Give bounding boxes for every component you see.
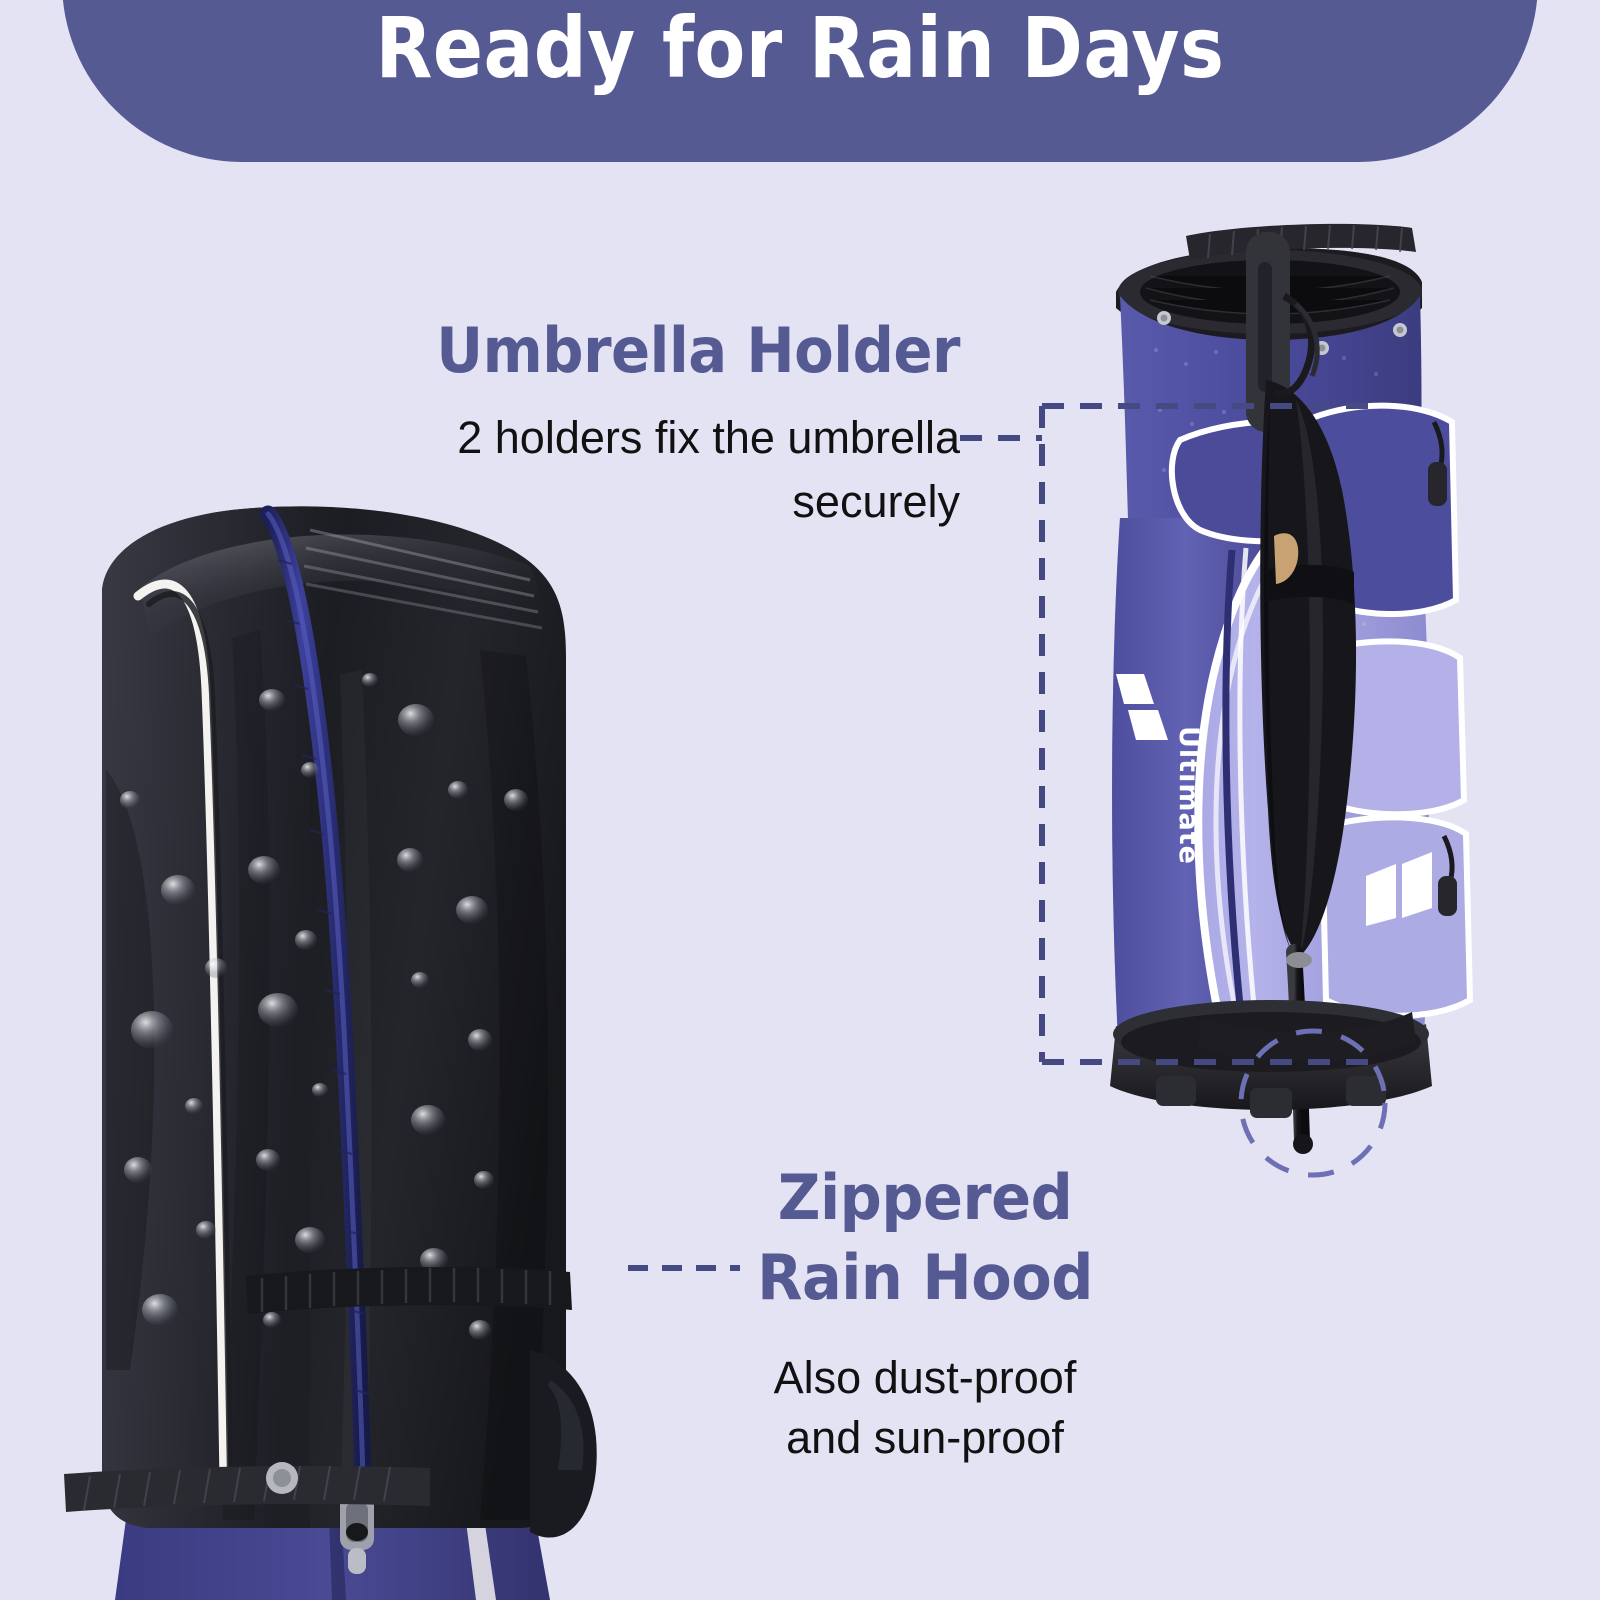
bag-base: [1110, 1000, 1432, 1118]
base-foot: [1156, 1076, 1196, 1106]
golf-bag-product-image: Ultimate: [1060, 200, 1480, 1195]
base-foot: [1250, 1088, 1292, 1118]
rain-hood-description: Also dust-proof and sun-proof: [690, 1348, 1160, 1468]
brand-name-text: Ultimate: [1173, 726, 1204, 865]
feature-umbrella-holder: Umbrella Holder 2 holders fix the umbrel…: [250, 312, 960, 534]
hood-side-flap: [530, 1350, 597, 1538]
rain-hood-heading-line1: Zippered: [702, 1158, 1149, 1238]
umbrella-holder-description-line2: securely: [792, 476, 960, 527]
base-foot: [1346, 1076, 1386, 1106]
header-banner: Ready for Rain Days: [62, 0, 1538, 162]
rain-hood-description-line2: and sun-proof: [786, 1412, 1064, 1463]
infographic-page: Ultimate: [0, 0, 1600, 1600]
rain-hood-description-line1: Also dust-proof: [774, 1352, 1077, 1403]
rain-hood-heading: Zippered Rain Hood: [702, 1158, 1149, 1318]
rain-hood-heading-line2: Rain Hood: [702, 1238, 1149, 1318]
umbrella-holder-heading: Umbrella Holder: [300, 312, 960, 390]
umbrella-holder-description-line1: 2 holders fix the umbrella: [457, 412, 960, 463]
page-title: Ready for Rain Days: [151, 0, 1450, 98]
umbrella-holder-description: 2 holders fix the umbrella securely: [250, 406, 960, 534]
feature-zippered-rain-hood: Zippered Rain Hood Also dust-proof and s…: [690, 1158, 1160, 1468]
rain-hood-product-image: [10, 470, 670, 1600]
